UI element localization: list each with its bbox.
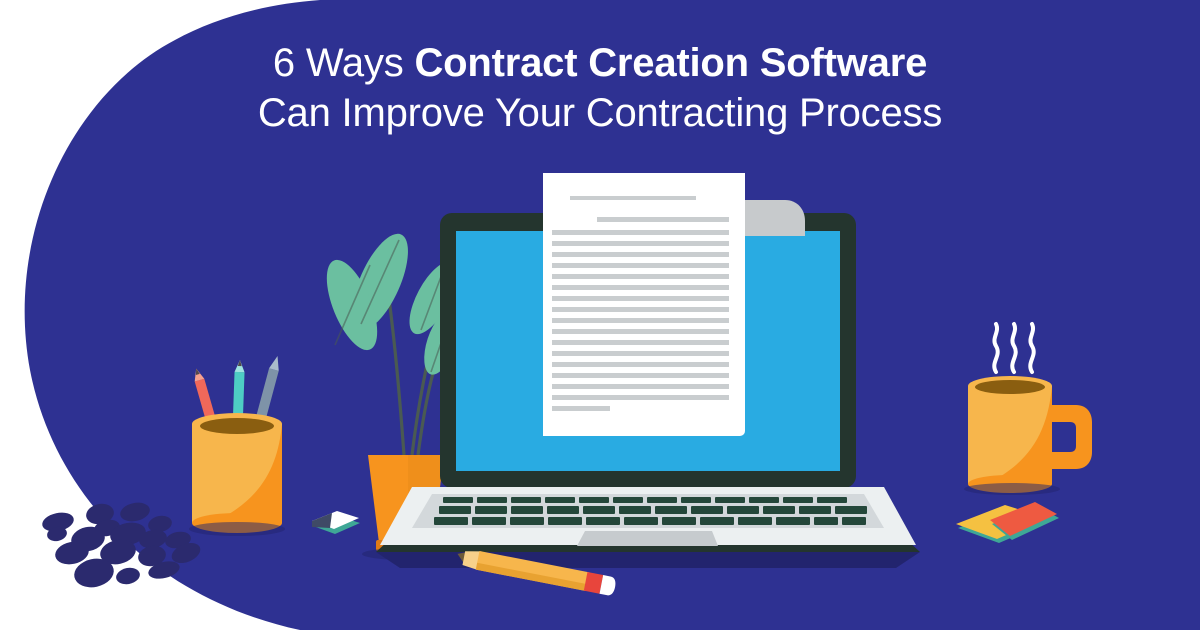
laptop-shadow: [376, 552, 920, 568]
pencil-cup: [189, 355, 285, 536]
mug-coffee: [975, 380, 1045, 394]
trackpad: [577, 531, 718, 546]
promo-banner: 6 Ways Contract Creation Software Can Im…: [0, 0, 1200, 630]
cup-shadow: [189, 522, 285, 536]
keyboard-keys: [434, 497, 867, 525]
document-fold-corner: [745, 200, 805, 236]
cup-interior: [200, 418, 274, 434]
mug-shadow: [964, 483, 1060, 495]
illustration-canvas: [0, 0, 1200, 630]
